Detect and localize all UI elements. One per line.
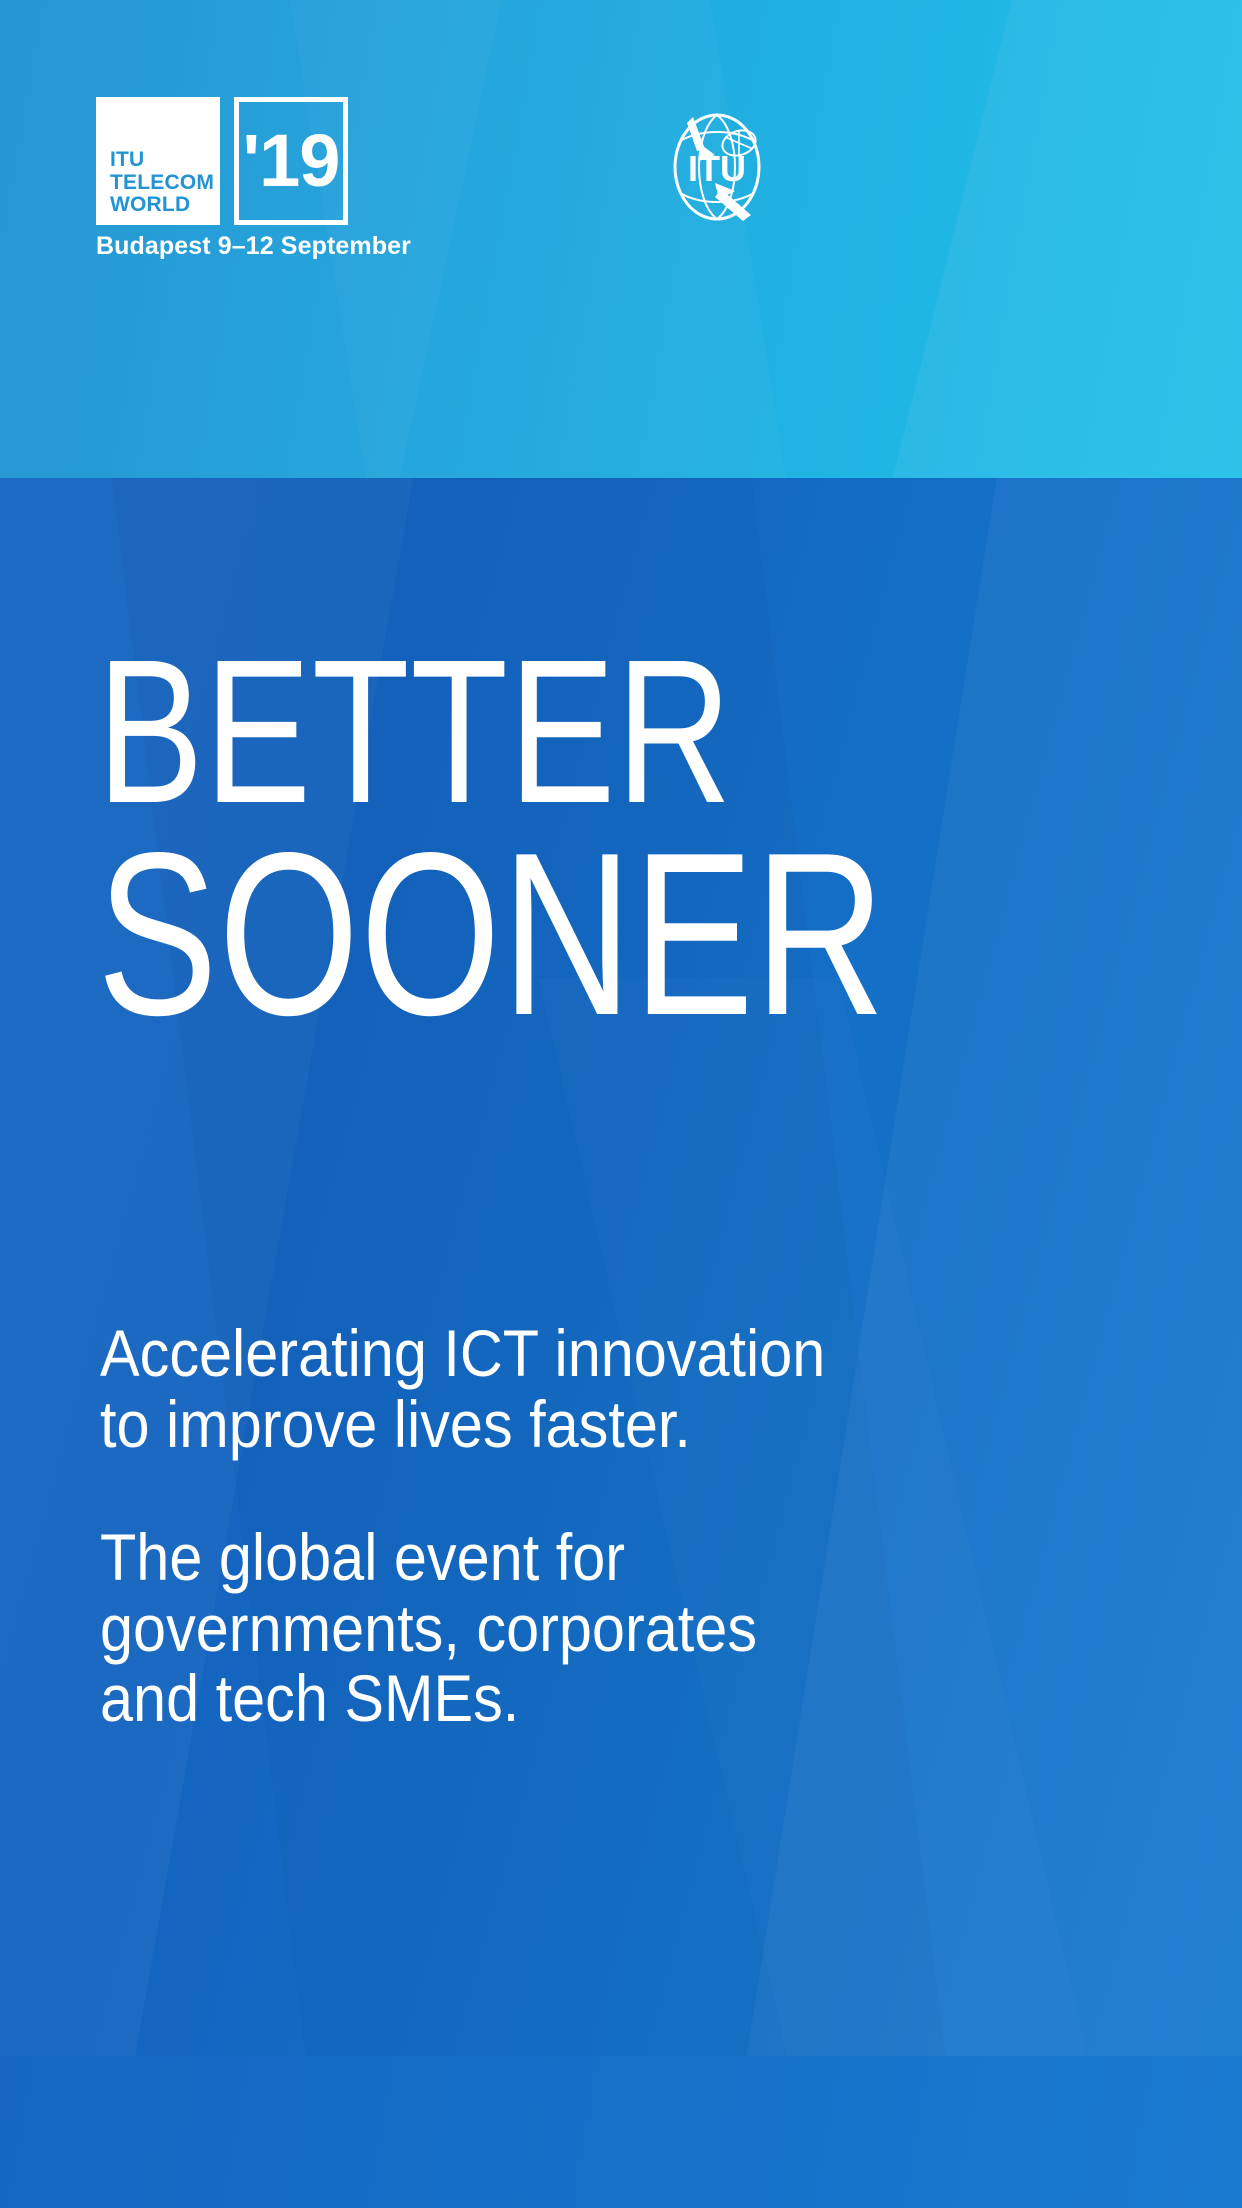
event-logo-caption: Budapest 9–12 September [96,232,411,261]
tagline-line-2: to improve lives faster. [100,1389,1018,1460]
event-logo-word-itu: ITU [110,149,220,171]
body-copy: Accelerating ICT innovation to improve l… [100,1318,1120,1734]
audience-line-3: and tech SMEs. [100,1663,1018,1734]
event-logo-word-world: WORLD [110,194,220,216]
tagline-line-1: Accelerating ICT innovation [100,1318,1018,1389]
itu-emblem-letters: ITU [688,148,746,189]
event-logo-year-box: '19 [234,97,348,225]
header-facet-right [847,0,1242,478]
headline-line-better: BETTER [97,640,955,825]
event-logo-year: '19 [243,124,340,198]
event-logo: ITU TELECOM WORLD '19 [96,97,348,225]
paragraph-tagline: Accelerating ICT innovation to improve l… [100,1318,1018,1459]
event-logo-wordmark-box: ITU TELECOM WORLD [96,97,220,225]
poster-root: ITU TELECOM WORLD '19 Budapest 9–12 Sept… [0,0,1242,2208]
event-logo-word-telecom: TELECOM [110,172,220,194]
headline-line-sooner: SOONER [97,831,955,1040]
itu-globe-emblem-icon: ITU [653,103,781,231]
audience-line-1: The global event for [100,1522,1018,1593]
paragraph-audience: The global event for governments, corpor… [100,1522,1018,1734]
audience-line-2: governments, corporates [100,1593,1018,1664]
footer-band [0,2056,1242,2208]
headline: BETTER SOONER [97,640,1197,1039]
